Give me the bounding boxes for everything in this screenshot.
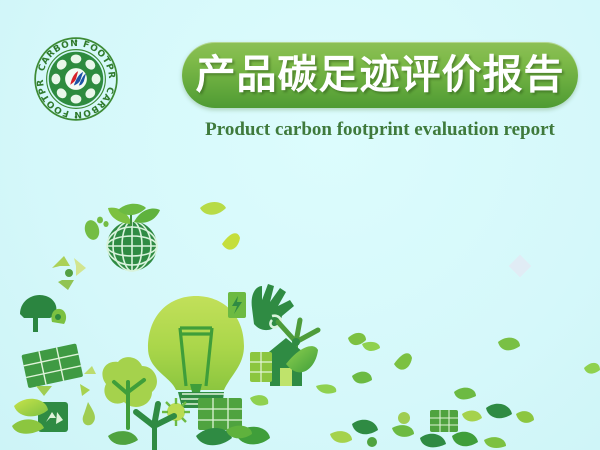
page-subtitle: Product carbon footprint evaluation repo…	[182, 119, 578, 141]
page-title: 产品碳足迹评价报告	[196, 55, 565, 95]
solar-panel-icon-bottom	[198, 398, 242, 430]
title-banner: 产品碳足迹评价报告	[182, 42, 578, 108]
recycle-icon	[52, 256, 86, 290]
hand-icon-spiral	[252, 284, 294, 330]
slide-canvas: CARBON FOOTPRINT CARBON FOOTPRINT	[0, 0, 600, 450]
footprint-icon	[83, 217, 109, 242]
solar-panel-icon	[21, 343, 83, 396]
trailing-eco-icons	[330, 404, 534, 448]
eco-icon-collage-footprint	[0, 196, 600, 450]
seal-bullet-top	[75, 40, 78, 43]
tree-icon-large	[102, 357, 157, 428]
seal-bullet-bottom	[75, 116, 78, 119]
globe-icon	[107, 221, 157, 271]
carbon-footprint-seal: CARBON FOOTPRINT CARBON FOOTPRINT	[33, 36, 119, 122]
solar-panel-icon-right	[250, 352, 272, 382]
solar-panel-icon-trail	[430, 410, 458, 432]
battery-icon	[228, 292, 246, 318]
water-drop-icon	[83, 402, 95, 425]
tree-icon	[20, 295, 56, 332]
recycle-icon-small	[80, 366, 96, 396]
